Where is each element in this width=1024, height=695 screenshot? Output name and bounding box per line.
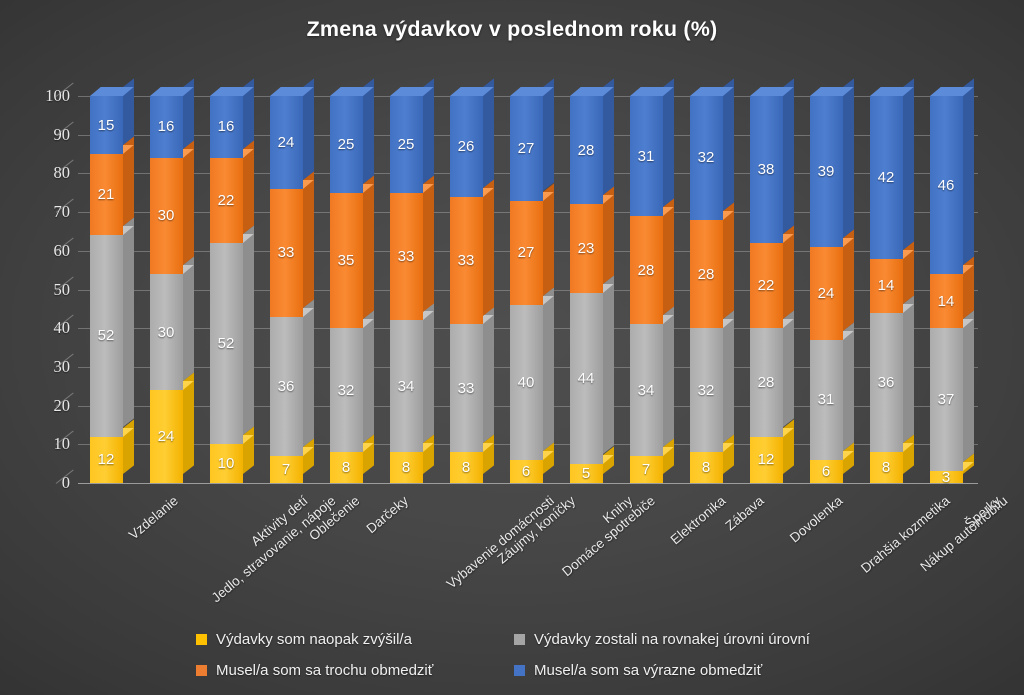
bar-segment[interactable]: 31 — [630, 96, 663, 216]
bar-segment[interactable]: 36 — [870, 313, 903, 452]
bar-segment[interactable]: 22 — [210, 158, 243, 243]
bar-segment[interactable]: 35 — [330, 193, 363, 328]
x-axis-category-label: Vybavenie domácnosti — [444, 493, 557, 591]
bar-segment[interactable]: 52 — [90, 235, 123, 436]
bar-segment[interactable]: 8 — [870, 452, 903, 483]
y-axis-tick-labels: 0102030405060708090100 — [14, 96, 70, 483]
bar-segment-face — [390, 452, 423, 483]
bar-segment[interactable]: 3 — [930, 471, 963, 483]
bar-segment-side — [243, 225, 254, 435]
bar-segment-side — [783, 78, 794, 234]
bar-segment-side — [363, 175, 374, 319]
bar-segment-face — [330, 328, 363, 452]
bar-segment-face — [570, 464, 603, 483]
bar-segment-side — [543, 78, 554, 191]
bar-segment-side — [603, 78, 614, 195]
bar-segment-side — [183, 256, 194, 381]
bar-segment-face — [750, 243, 783, 328]
bar-segment[interactable]: 26 — [450, 96, 483, 197]
bar-segment[interactable]: 8 — [330, 452, 363, 483]
bar-segment[interactable]: 8 — [450, 452, 483, 483]
legend-item[interactable]: Výdavky som naopak zvýšil/a — [196, 624, 514, 655]
bar-segment[interactable]: 36 — [270, 317, 303, 456]
bar-segment-side — [963, 311, 974, 463]
bar-segment[interactable]: 25 — [330, 96, 363, 193]
x-axis-category-label: Elektronika — [668, 493, 729, 547]
bar-segment-face — [630, 456, 663, 483]
bar-segment-side — [723, 311, 734, 443]
bar-segment[interactable]: 33 — [390, 193, 423, 321]
bar-segment-face — [810, 247, 843, 340]
bar-segment[interactable]: 44 — [570, 293, 603, 463]
bar-segment[interactable]: 39 — [810, 96, 843, 247]
bar-segment-side — [483, 307, 494, 443]
bar-segment[interactable]: 16 — [150, 96, 183, 158]
bar-segment-face — [870, 452, 903, 483]
chart-canvas: Zmena výdavkov v poslednom roku (%) 0102… — [0, 0, 1024, 695]
bar-segment[interactable]: 16 — [210, 96, 243, 158]
bar-segment[interactable]: 25 — [390, 96, 423, 193]
bar-segment-face — [270, 96, 303, 189]
bar-segment-face — [630, 324, 663, 456]
legend-item[interactable]: Musel/a som sa trochu obmedziť — [196, 655, 514, 686]
bar-segment[interactable]: 38 — [750, 96, 783, 243]
bar-segment-side — [723, 202, 734, 319]
bar-segment-face — [930, 328, 963, 471]
bar-segment[interactable]: 7 — [630, 456, 663, 483]
bar-segment-face — [210, 158, 243, 243]
bar-segment-face — [390, 193, 423, 321]
bar-segment[interactable]: 33 — [450, 324, 483, 452]
bar-segment[interactable]: 33 — [450, 197, 483, 325]
bar-segment-face — [510, 201, 543, 305]
bar-segment-face — [450, 452, 483, 483]
bar-segment-side — [843, 322, 854, 451]
bar-segment-face — [810, 340, 843, 460]
bar-segment-face — [570, 96, 603, 204]
bar-segment[interactable]: 7 — [270, 456, 303, 483]
legend-color-swatch — [196, 634, 207, 645]
bar-segment-side — [363, 311, 374, 443]
bar-segment-side — [123, 218, 134, 428]
bar-segment-face — [270, 317, 303, 456]
bar-segment-face — [330, 452, 363, 483]
bar-segment-face — [210, 444, 243, 483]
bar-segment-face — [450, 324, 483, 452]
bar-segment-side — [663, 78, 674, 207]
bar-segment[interactable]: 5 — [570, 464, 603, 483]
bar-segment[interactable]: 23 — [570, 204, 603, 293]
bar-segment[interactable]: 33 — [270, 189, 303, 317]
bar-segment[interactable]: 10 — [210, 444, 243, 483]
legend-label: Výdavky som naopak zvýšil/a — [216, 631, 412, 648]
bar-segment-side — [423, 303, 434, 443]
bar-segment-face — [390, 320, 423, 452]
x-axis-category-label: Zábava — [723, 493, 767, 533]
bar-segment-face — [930, 274, 963, 328]
bar-segment[interactable]: 12 — [90, 437, 123, 483]
x-axis-category-label: Dovolenka — [787, 493, 846, 545]
bar-segment-face — [750, 437, 783, 483]
bar-segment-face — [210, 96, 243, 158]
bar-segment[interactable]: 8 — [690, 452, 723, 483]
bar-segment-side — [423, 175, 434, 311]
bar-segment-face — [750, 96, 783, 243]
bar-segment-face — [510, 96, 543, 200]
bar-segment-face — [150, 96, 183, 158]
bar-segment-face — [690, 96, 723, 220]
bar-segment-face — [930, 96, 963, 274]
bar-segment[interactable]: 15 — [90, 96, 123, 154]
bar-segment-side — [603, 276, 614, 455]
bar-segment-side — [663, 307, 674, 447]
bar-segment-side — [543, 287, 554, 450]
x-axis-category-label: Jedlo, stravovanie, nápoje — [209, 493, 339, 605]
bar-segment[interactable]: 24 — [150, 390, 183, 483]
bar-segment-face — [90, 235, 123, 436]
bar-segment-face — [390, 96, 423, 193]
plot-area: 1252211524303016105222167363324832352583… — [78, 96, 978, 483]
bar-segment-face — [150, 390, 183, 483]
bar-segment[interactable]: 24 — [810, 247, 843, 340]
bar-segment[interactable]: 28 — [750, 328, 783, 436]
bar-segment[interactable]: 32 — [690, 328, 723, 452]
bar-segment-side — [903, 295, 914, 443]
legend-label: Výdavky zostali na rovnakej úrovni úrovn… — [534, 631, 810, 648]
bar-segment-face — [930, 471, 963, 483]
bar-segment-face — [330, 96, 363, 193]
legend-color-swatch — [196, 665, 207, 676]
bar-segment[interactable]: 8 — [390, 452, 423, 483]
bar-segment-face — [630, 96, 663, 216]
bar-segment[interactable]: 14 — [870, 259, 903, 313]
bar-segment-side — [183, 140, 194, 265]
bar-segment-face — [270, 456, 303, 483]
bar-segment-side — [483, 179, 494, 315]
bar-segment-face — [450, 96, 483, 197]
bar-segment[interactable]: 27 — [510, 96, 543, 200]
bar-segment-face — [690, 220, 723, 328]
bar-segment[interactable]: 37 — [930, 328, 963, 471]
x-axis-category-labels: VzdelanieJedlo, stravovanie, nápojeAktiv… — [0, 487, 1024, 607]
bar-segment[interactable]: 22 — [750, 243, 783, 328]
legend-item[interactable]: Výdavky zostali na rovnakej úrovni úrovn… — [514, 624, 856, 655]
bar-segment-face — [330, 193, 363, 328]
bar-segment[interactable]: 21 — [90, 154, 123, 235]
bar-segment[interactable]: 28 — [630, 216, 663, 324]
bar-segment[interactable]: 40 — [510, 305, 543, 460]
x-axis-category-label: Vzdelanie — [126, 493, 181, 543]
bar-segment[interactable]: 30 — [150, 158, 183, 274]
bar-segment[interactable]: 28 — [570, 96, 603, 204]
bar-segment-side — [663, 198, 674, 315]
bar-segment-face — [570, 293, 603, 463]
bar-segment-side — [903, 78, 914, 249]
bar-segment[interactable]: 12 — [750, 437, 783, 483]
bar-segment-face — [90, 437, 123, 483]
bar-segment[interactable]: 30 — [150, 274, 183, 390]
bar-segment-face — [90, 154, 123, 235]
bar-segment-face — [870, 313, 903, 452]
bar-segment-face — [810, 460, 843, 483]
legend-label: Musel/a som sa trochu obmedziť — [216, 662, 433, 679]
bar-segment[interactable]: 31 — [810, 340, 843, 460]
bar-segment-face — [510, 305, 543, 460]
bar-segment-face — [90, 96, 123, 154]
chart-title: Zmena výdavkov v poslednom roku (%) — [0, 17, 1024, 42]
bar-segment[interactable]: 24 — [270, 96, 303, 189]
bar-segment[interactable]: 34 — [630, 324, 663, 456]
bar-segment-face — [450, 197, 483, 325]
bar-segment[interactable]: 42 — [870, 96, 903, 259]
bar-segment-face — [570, 204, 603, 293]
bar-segment-face — [690, 452, 723, 483]
bar-segment-face — [810, 96, 843, 247]
bar-segment-face — [150, 158, 183, 274]
bar-segment-face — [870, 96, 903, 259]
legend-item[interactable]: Musel/a som sa výrazne obmedziť — [514, 655, 856, 686]
bar-segment-side — [843, 78, 854, 238]
bar-segment-face — [750, 328, 783, 436]
gridline — [78, 483, 978, 484]
bar-segment-face — [630, 216, 663, 324]
x-axis-category-label: Darčeky — [364, 493, 412, 536]
bar-segment[interactable]: 32 — [690, 96, 723, 220]
bar-segment-face — [270, 189, 303, 317]
bar-segment-side — [303, 299, 314, 447]
legend-color-swatch — [514, 634, 525, 645]
bar-segment-side — [723, 78, 734, 210]
legend-label: Musel/a som sa výrazne obmedziť — [534, 662, 762, 679]
bar-segment-face — [510, 460, 543, 483]
bar-segment-face — [150, 274, 183, 390]
bar-segment-face — [210, 243, 243, 444]
bar-segment[interactable]: 52 — [210, 243, 243, 444]
bar-segment-side — [303, 171, 314, 307]
bar-segment[interactable]: 34 — [390, 320, 423, 452]
legend-color-swatch — [514, 665, 525, 676]
bar-segment[interactable]: 6 — [810, 460, 843, 483]
bar-segment[interactable]: 27 — [510, 201, 543, 305]
bar-segment[interactable]: 14 — [930, 274, 963, 328]
bar-segment-side — [963, 78, 974, 265]
bar-segment[interactable]: 28 — [690, 220, 723, 328]
bar-segment-side — [783, 311, 794, 428]
bar-segment-face — [870, 259, 903, 313]
chart-legend: Výdavky som naopak zvýšil/aVýdavky zosta… — [196, 624, 856, 686]
bar-segment[interactable]: 6 — [510, 460, 543, 483]
bar-segment-face — [690, 328, 723, 452]
bar-segment[interactable]: 32 — [330, 328, 363, 452]
bar-segment[interactable]: 46 — [930, 96, 963, 274]
